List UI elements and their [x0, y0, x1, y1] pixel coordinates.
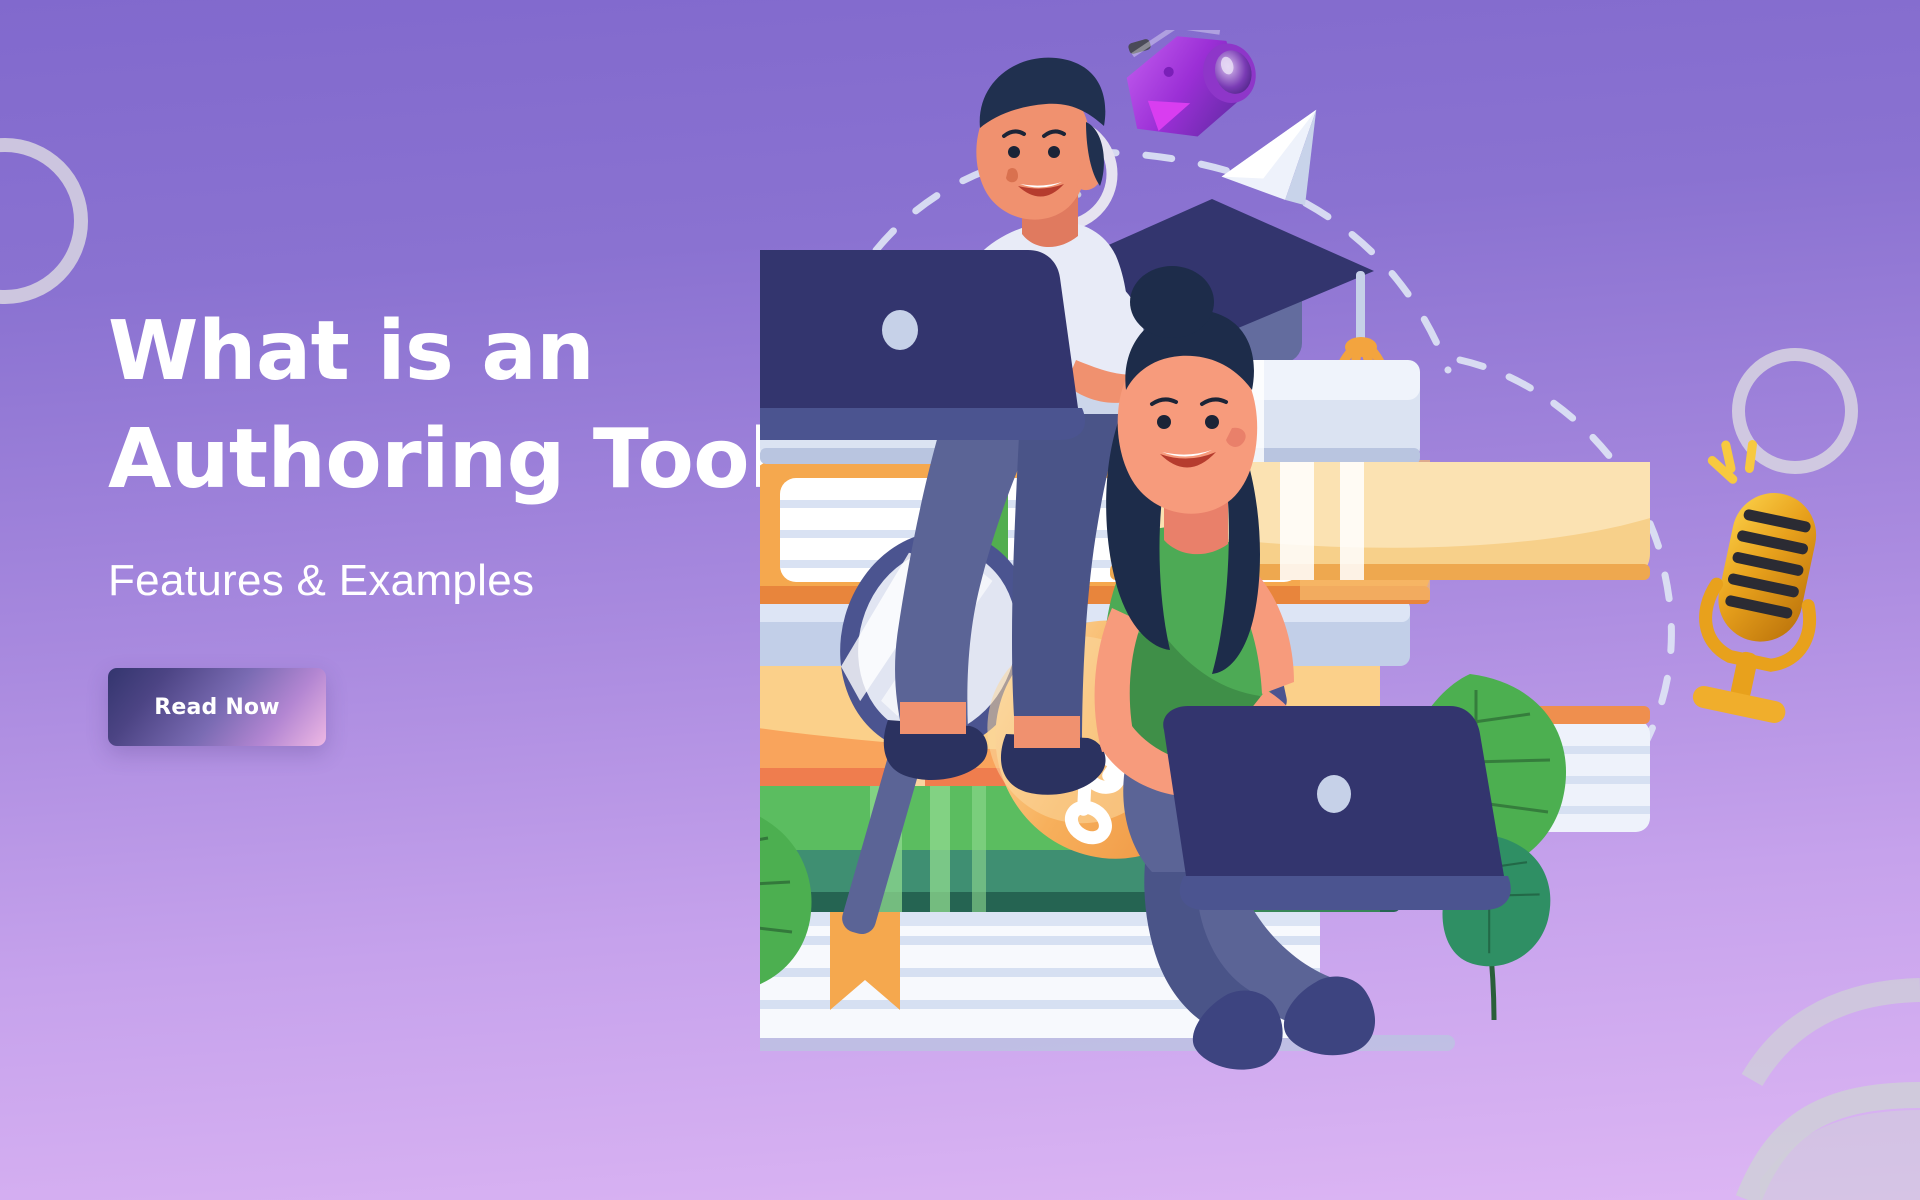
- headline-line-2: Authoring Tool?: [108, 406, 868, 514]
- hero-copy: What is an Authoring Tool? Features & Ex…: [108, 298, 868, 746]
- microphone-icon: [1662, 437, 1844, 726]
- decorative-ring-left-icon: [0, 138, 88, 304]
- page-title: What is an Authoring Tool?: [108, 298, 868, 514]
- hero-illustration: [760, 30, 1920, 1200]
- read-now-button[interactable]: Read Now: [108, 668, 326, 746]
- promo-banner: What is an Authoring Tool? Features & Ex…: [0, 0, 1920, 1200]
- headline-line-1: What is an: [108, 304, 594, 399]
- paper-plane-icon: [1211, 110, 1338, 223]
- page-subtitle: Features & Examples: [108, 556, 868, 606]
- camera-icon: [1113, 30, 1269, 152]
